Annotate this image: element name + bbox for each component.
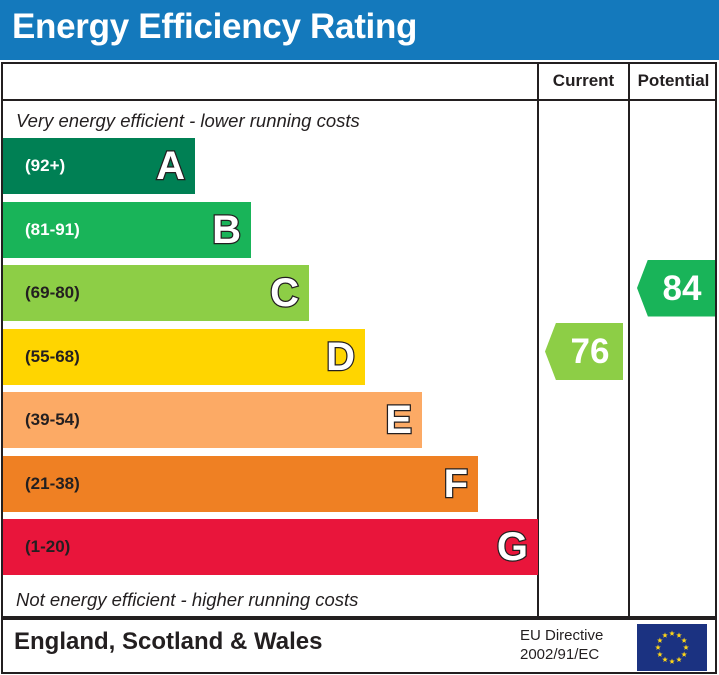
band-range-label: (81-91): [25, 220, 80, 240]
caption-inefficient: Not energy efficient - higher running co…: [16, 589, 358, 611]
page-title: Energy Efficiency Rating: [12, 7, 417, 47]
current-rating-arrow: 76: [545, 323, 623, 380]
eu-flag-icon: [637, 624, 707, 671]
band-range-label: (1-20): [25, 537, 70, 557]
band-range-label: (39-54): [25, 410, 80, 430]
band-c: (69-80)C: [3, 265, 309, 321]
band-d: (55-68)D: [3, 329, 365, 385]
band-letter-f: F: [444, 464, 468, 504]
band-letter-g: G: [497, 527, 528, 567]
energy-efficiency-rating-chart: Energy Efficiency Rating Current Potenti…: [0, 0, 719, 675]
column-header-current: Current: [539, 71, 628, 91]
potential-rating-arrow: 84: [637, 260, 715, 317]
band-range-label: (92+): [25, 156, 65, 176]
band-letter-b: B: [212, 210, 241, 250]
band-e: (39-54)E: [3, 392, 422, 448]
column-divider-potential: [628, 62, 630, 618]
column-header-potential: Potential: [630, 71, 717, 91]
band-range-label: (55-68): [25, 347, 80, 367]
current-rating-value: 76: [559, 334, 610, 369]
band-b: (81-91)B: [3, 202, 251, 258]
band-f: (21-38)F: [3, 456, 478, 512]
potential-rating-value: 84: [651, 271, 702, 306]
band-letter-c: C: [270, 273, 299, 313]
footer-directive-line1: EU Directive: [520, 626, 624, 645]
band-letter-a: A: [156, 146, 185, 186]
title-bar: Energy Efficiency Rating: [0, 0, 719, 60]
footer-directive: EU Directive 2002/91/EC: [520, 626, 624, 664]
band-letter-d: D: [326, 337, 355, 377]
band-range-label: (21-38): [25, 474, 80, 494]
footer-directive-line2: 2002/91/EC: [520, 645, 624, 664]
band-g: (1-20)G: [3, 519, 538, 575]
caption-efficient: Very energy efficient - lower running co…: [16, 110, 360, 132]
band-a: (92+)A: [3, 138, 195, 194]
band-range-label: (69-80): [25, 283, 80, 303]
footer-region-label: England, Scotland & Wales: [14, 628, 322, 656]
band-letter-e: E: [385, 400, 412, 440]
header-row-divider: [1, 99, 717, 101]
